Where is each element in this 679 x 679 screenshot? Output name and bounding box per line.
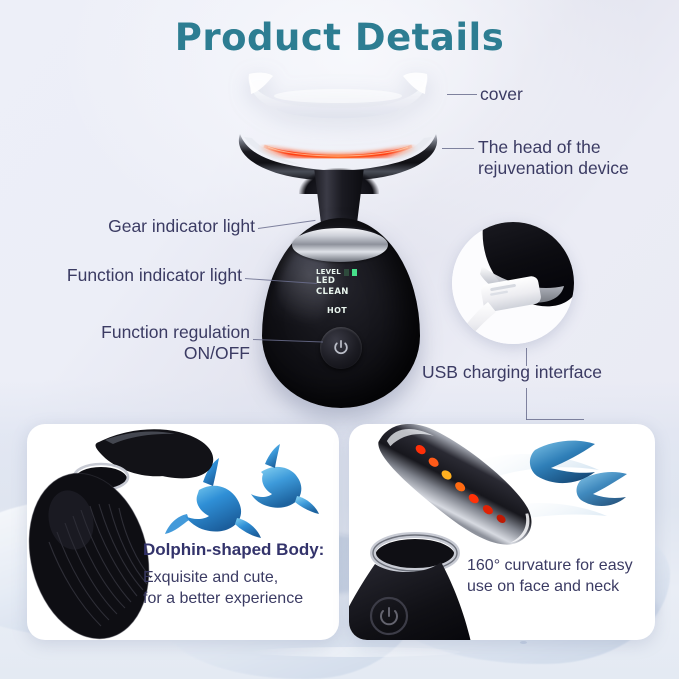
card-right-art [349,424,655,640]
leader-line-usb-foot [526,419,584,420]
usb-charging-inset [452,222,574,344]
device-cover-art [243,70,433,126]
device-control-panel: LEVEL LED CLEAN HOT [316,268,396,315]
leader-line-regulation [253,339,323,342]
annotation-usb: USB charging interface [422,362,602,383]
led-strip [264,146,412,157]
card-dolphin-body: Dolphin-shaped Body: Exquisite and cute,… [27,424,339,640]
card-left-title: Dolphin-shaped Body: [143,540,324,560]
power-button[interactable] [320,327,362,369]
card-right-text: 160° curvature for easy use on face and … [467,556,633,598]
ice-speck [520,641,527,644]
dolphin-icon [251,444,319,514]
device-body-highlight [264,236,338,364]
device-head-art [232,128,444,186]
led-label: LED [316,276,396,287]
leader-line-gear [258,220,316,229]
card-left-text: Exquisite and cute, for a better experie… [143,568,303,610]
level-bar-1 [344,269,349,276]
power-icon [331,338,351,358]
device-chrome-ring [292,228,388,262]
page-title: Product Details [0,16,679,59]
annotation-function-regulation: Function regulation ON/OFF [40,322,250,365]
level-label: LEVEL [316,268,341,276]
annotation-cover: cover [480,84,523,105]
device-ring-inner [302,226,378,248]
device-stem-flare [299,168,379,194]
leader-line-cover [447,94,477,95]
ice-streak [250,647,460,657]
clean-label: CLEAN [316,287,396,298]
card-curvature: 160° curvature for easy use on face and … [349,424,655,640]
level-row: LEVEL [316,268,396,276]
usb-inset-art [452,222,574,344]
dolphin-tail-icon [530,441,595,483]
led-strip-glow [262,146,414,157]
annotation-function-indicator: Function indicator light [20,265,242,286]
level-bar-2 [352,269,357,276]
annotation-head: The head of the rejuvenation device [478,137,629,180]
leader-line-function-indicator [245,278,317,284]
hot-label: HOT [327,306,396,315]
leader-line-usb-bottom [526,388,527,420]
infographic-canvas: Product Details [0,0,679,679]
leader-line-head [442,148,474,149]
annotation-gear-indicator: Gear indicator light [40,216,255,237]
device-stem [311,170,367,242]
